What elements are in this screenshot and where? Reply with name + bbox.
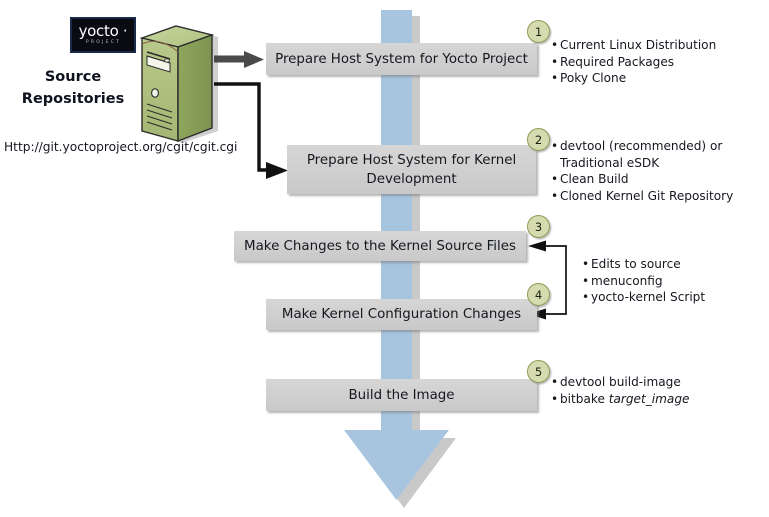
server-icon	[142, 26, 218, 143]
list-item-label: devtool (recommended) or Traditional eSD…	[560, 138, 751, 171]
flow-box-build-the-image[interactable]: Build the Image	[266, 379, 537, 411]
arrow-server-to-box1	[214, 51, 264, 68]
step-badge-4: 4	[527, 283, 550, 306]
step-badge-5: 5	[527, 360, 550, 383]
list-item: • bitbake target_image	[551, 391, 751, 408]
list-item: • Cloned Kernel Git Repository	[551, 188, 751, 205]
step-badge-2: 2	[527, 128, 550, 151]
bullet-icon: •	[551, 171, 560, 188]
source-repositories-label: Source Repositories	[8, 66, 138, 110]
list-item-label: Cloned Kernel Git Repository	[560, 188, 751, 205]
logo-subtext: PROJECT	[86, 41, 121, 46]
list-item-label: Required Packages	[560, 54, 761, 71]
bullet-icon: •	[551, 138, 560, 155]
list-item: • Edits to source	[582, 256, 762, 273]
bullet-icon: •	[551, 37, 560, 54]
list-item: • Poky Clone	[551, 70, 761, 87]
bullet-icon: •	[551, 391, 560, 408]
bullet-icon: •	[582, 289, 591, 306]
notes-list-step-5: • devtool build-image • bitbake target_i…	[551, 374, 751, 407]
logo-wordmark: yocto ·	[79, 24, 128, 39]
bullet-icon: •	[551, 70, 560, 87]
arrow-server-to-box2	[214, 84, 288, 179]
list-item-label: menuconfig	[591, 273, 762, 290]
flow-box-make-changes-kernel-source[interactable]: Make Changes to the Kernel Source Files	[234, 231, 526, 261]
bullet-icon: •	[551, 188, 560, 205]
list-item-label: Poky Clone	[560, 70, 761, 87]
source-label-line-1: Source	[8, 66, 138, 88]
bullet-icon: •	[582, 273, 591, 290]
step-badge-3: 3	[527, 215, 550, 238]
list-item: • Required Packages	[551, 54, 761, 71]
flow-box-prepare-host-kernel[interactable]: Prepare Host System for Kernel Developme…	[287, 145, 536, 194]
list-item-command: bitbake	[560, 392, 609, 406]
list-item-label: devtool build-image	[560, 374, 751, 391]
bullet-icon: •	[582, 256, 591, 273]
notes-list-step-2: • devtool (recommended) or Traditional e…	[551, 138, 751, 204]
list-item: • menuconfig	[582, 273, 762, 290]
list-item: • Clean Build	[551, 171, 751, 188]
list-item: • devtool (recommended) or Traditional e…	[551, 138, 751, 171]
list-item: • Current Linux Distribution	[551, 37, 761, 54]
notes-list-step-1: • Current Linux Distribution • Required …	[551, 37, 761, 87]
notes-list-steps-3-4: • Edits to source • menuconfig • yocto-k…	[582, 256, 762, 306]
yocto-project-logo: yocto · PROJECT	[70, 17, 136, 53]
flow-box-prepare-host-yocto[interactable]: Prepare Host System for Yocto Project	[266, 43, 537, 75]
bullet-icon: •	[551, 54, 560, 71]
flow-box-make-kernel-config-changes[interactable]: Make Kernel Configuration Changes	[266, 299, 537, 330]
list-item-label: yocto-kernel Script	[591, 289, 762, 306]
list-item-label: Current Linux Distribution	[560, 37, 761, 54]
list-item-argument: target_image	[609, 392, 690, 406]
list-item: • devtool build-image	[551, 374, 751, 391]
source-repositories-url: Http://git.yoctoproject.org/cgit/cgit.cg…	[4, 140, 237, 154]
list-item-label: Edits to source	[591, 256, 762, 273]
source-label-line-2: Repositories	[8, 88, 138, 110]
list-item-label: Clean Build	[560, 171, 751, 188]
list-item: • yocto-kernel Script	[582, 289, 762, 306]
list-item-label: bitbake target_image	[560, 391, 751, 408]
step-badge-1: 1	[527, 20, 550, 43]
bullet-icon: •	[551, 374, 560, 391]
